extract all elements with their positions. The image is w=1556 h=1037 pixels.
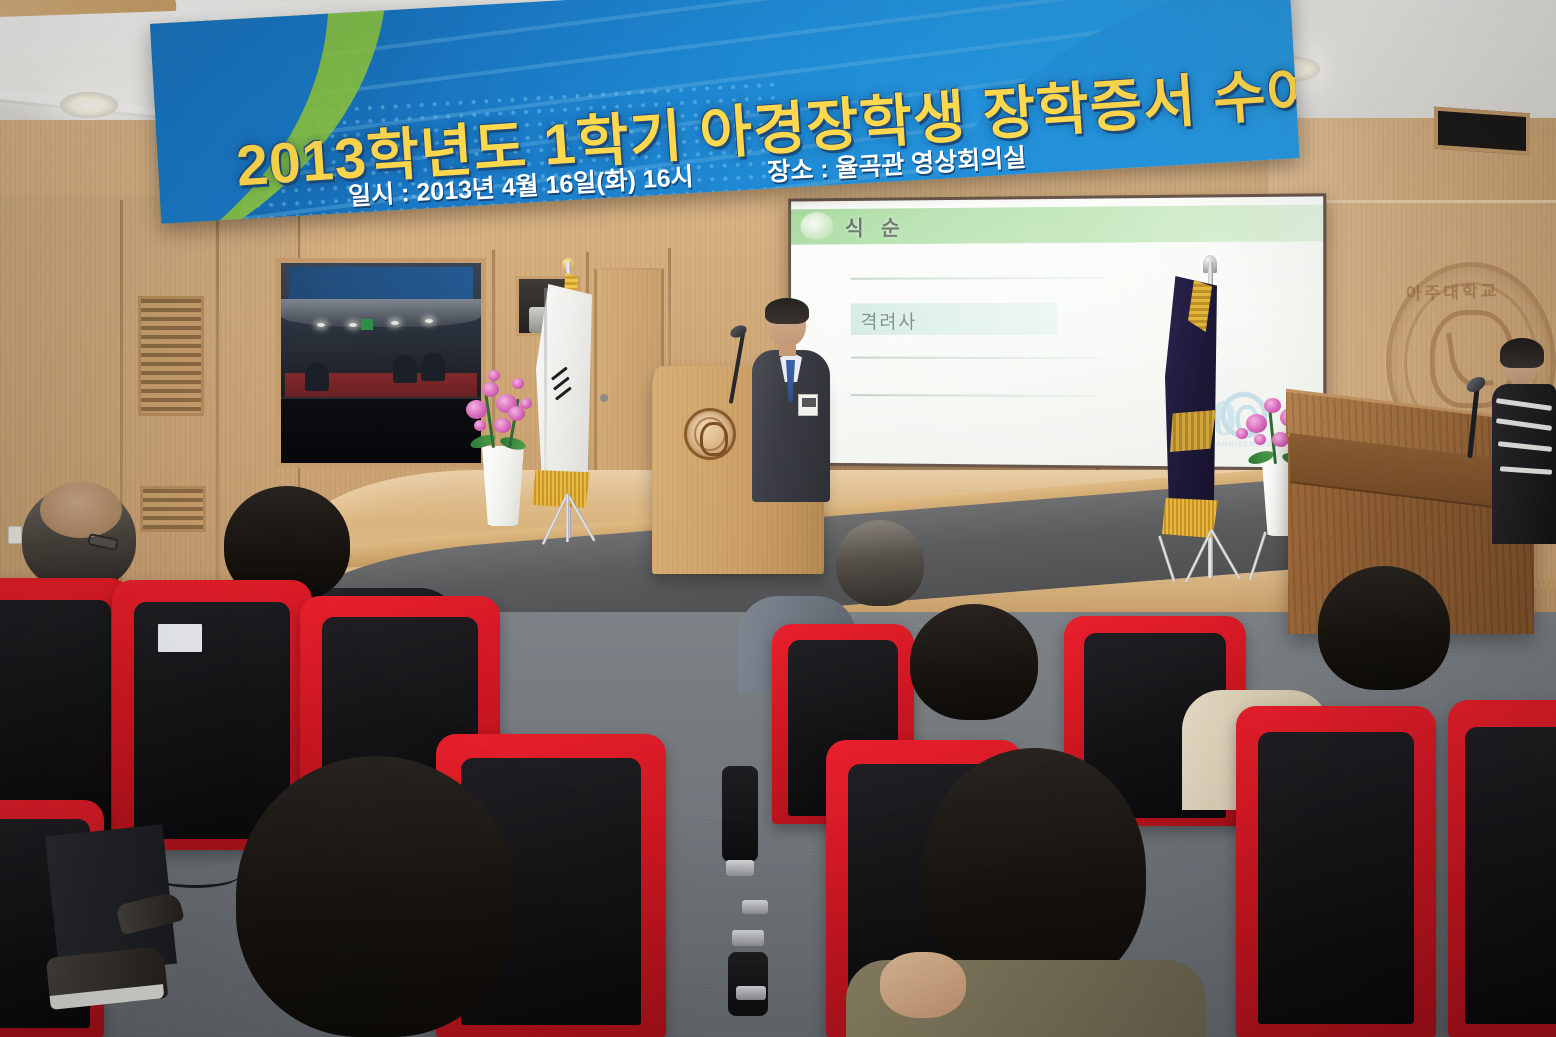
slide-highlight-label: 격려사 bbox=[860, 307, 917, 334]
orchid-bloom bbox=[512, 378, 524, 389]
window-lower-dark-panel bbox=[281, 397, 481, 463]
auditorium-seat[interactable] bbox=[1236, 706, 1436, 1037]
dark-glass-window bbox=[276, 258, 486, 468]
seat-backrest bbox=[1258, 732, 1414, 1023]
audience-head-foreground bbox=[922, 748, 1146, 994]
seat-backrest bbox=[1465, 727, 1556, 1024]
flag-fold-shadow bbox=[544, 288, 547, 488]
orchid-bloom bbox=[1264, 398, 1281, 413]
audience-head bbox=[1318, 566, 1450, 690]
orchid-bloom bbox=[1246, 414, 1267, 433]
reflected-light bbox=[425, 319, 433, 323]
speaker-hair bbox=[765, 298, 809, 324]
wall-vent-grille bbox=[140, 486, 206, 532]
emblem-korean-name: 아주대학교 bbox=[1406, 276, 1500, 304]
orchid-bloom bbox=[494, 418, 511, 433]
reflected-light bbox=[391, 321, 399, 325]
podium-university-seal bbox=[684, 408, 736, 460]
audience-bald-scalp bbox=[40, 482, 122, 538]
mc-person bbox=[1492, 344, 1556, 544]
wall-speaker-grille bbox=[1434, 107, 1530, 156]
speaker-name-badge bbox=[798, 394, 818, 416]
armrest-bracket bbox=[732, 930, 764, 946]
slide-divider bbox=[851, 394, 1099, 397]
audience-head bbox=[910, 604, 1038, 720]
auditorium-ceremony-photo: 아주대학교 1973 AJOU UNIVERSITY 식 순 격려사 bbox=[0, 0, 1556, 1037]
speaker-at-podium bbox=[752, 302, 830, 502]
reflected-person bbox=[421, 353, 445, 381]
orchid-bloom bbox=[1254, 434, 1266, 445]
orchid-bloom bbox=[488, 370, 500, 381]
slide-divider bbox=[851, 277, 1105, 280]
armrest-bracket bbox=[742, 900, 768, 914]
mc-hair bbox=[1500, 338, 1544, 368]
podium-seal-ring bbox=[694, 417, 726, 451]
orchid-bloom bbox=[474, 420, 486, 431]
reflected-person bbox=[393, 355, 417, 383]
reflected-ceiling bbox=[281, 299, 481, 327]
flag-gold-embroidery bbox=[1170, 410, 1216, 452]
wall-panel-seam bbox=[668, 248, 671, 378]
seat-armrest bbox=[728, 952, 768, 1016]
slide-leaf-logo-icon bbox=[801, 212, 834, 240]
reflected-light bbox=[349, 323, 357, 327]
floor-cable bbox=[150, 862, 240, 888]
ceiling-downlight bbox=[60, 92, 118, 118]
armrest-bracket bbox=[726, 860, 754, 876]
seat-armrest bbox=[722, 766, 758, 862]
flag-tripod-leg bbox=[566, 494, 569, 542]
slide-header-title: 식 순 bbox=[845, 212, 906, 242]
auditorium-seat[interactable] bbox=[1448, 700, 1556, 1037]
projection-screen: 식 순 격려사 40 ANNIVERSARY bbox=[791, 196, 1323, 467]
audience-head-foreground bbox=[236, 756, 516, 1037]
audience-hand bbox=[880, 952, 966, 1018]
wall-outlet[interactable] bbox=[8, 526, 22, 544]
slide-divider bbox=[851, 357, 1101, 359]
orchid-bloom bbox=[520, 398, 532, 409]
door-knob[interactable] bbox=[600, 394, 608, 402]
orchid-bloom bbox=[1236, 428, 1248, 439]
orchid-bloom bbox=[466, 400, 487, 419]
reflected-exit-sign bbox=[361, 319, 373, 330]
reflected-person bbox=[305, 363, 329, 391]
reflected-light bbox=[317, 323, 325, 327]
anniversary-caption: ANNIVERSARY bbox=[1216, 441, 1279, 449]
armrest-bracket bbox=[736, 986, 766, 1000]
orchid-bloom bbox=[482, 382, 499, 397]
reflected-banner bbox=[289, 267, 473, 299]
wall-panel-seam bbox=[216, 210, 219, 620]
seat-number-tag bbox=[158, 624, 202, 652]
wall-vent-grille bbox=[138, 296, 204, 416]
audience-head bbox=[836, 520, 924, 606]
